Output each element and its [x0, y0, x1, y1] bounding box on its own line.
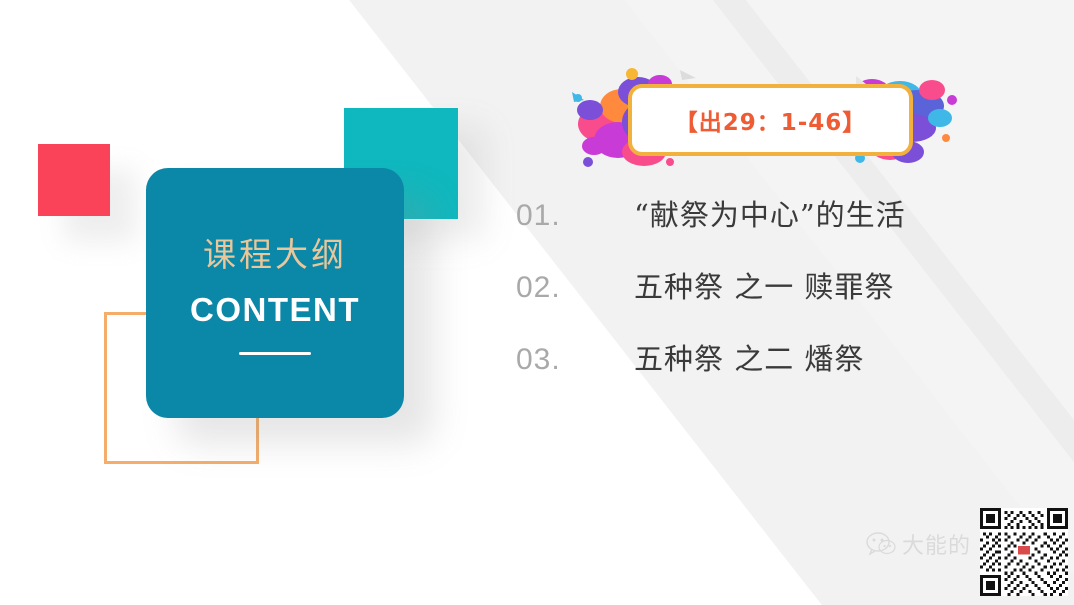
content-card-underline: [239, 352, 311, 355]
wechat-watermark: 大能的: [866, 528, 971, 560]
list-item[interactable]: 01. “献祭为中心”的生活: [516, 192, 1036, 264]
slide-canvas: 课程大纲 CONTENT: [0, 0, 1074, 605]
wechat-watermark-text: 大能的: [902, 528, 971, 560]
scripture-reference-badge-group: 【出29：1-46】: [560, 62, 980, 182]
scripture-reference-badge: 【出29：1-46】: [628, 84, 913, 156]
agenda-item-label: 五种祭 之二 燔祭: [634, 336, 864, 378]
agenda-item-label: “献祭为中心”的生活: [634, 192, 906, 234]
content-title-card: 课程大纲 CONTENT: [146, 168, 404, 418]
agenda-item-label: 五种祭 之一 赎罪祭: [634, 264, 894, 306]
wechat-icon: [866, 532, 896, 556]
content-card-title-cn: 课程大纲: [203, 238, 347, 271]
qr-code: [980, 508, 1068, 596]
pink-square-decoration: [38, 144, 110, 216]
list-item[interactable]: 03. 五种祭 之二 燔祭: [516, 336, 1036, 408]
agenda-item-number: 02.: [516, 271, 634, 305]
scripture-reference-text: 【出29：1-46】: [675, 103, 867, 137]
content-card-title-en: CONTENT: [190, 293, 360, 326]
agenda-list: 01. “献祭为中心”的生活 02. 五种祭 之一 赎罪祭 03. 五种祭 之二…: [516, 192, 1036, 408]
list-item[interactable]: 02. 五种祭 之一 赎罪祭: [516, 264, 1036, 336]
agenda-item-number: 01.: [516, 199, 634, 233]
agenda-item-number: 03.: [516, 343, 634, 377]
